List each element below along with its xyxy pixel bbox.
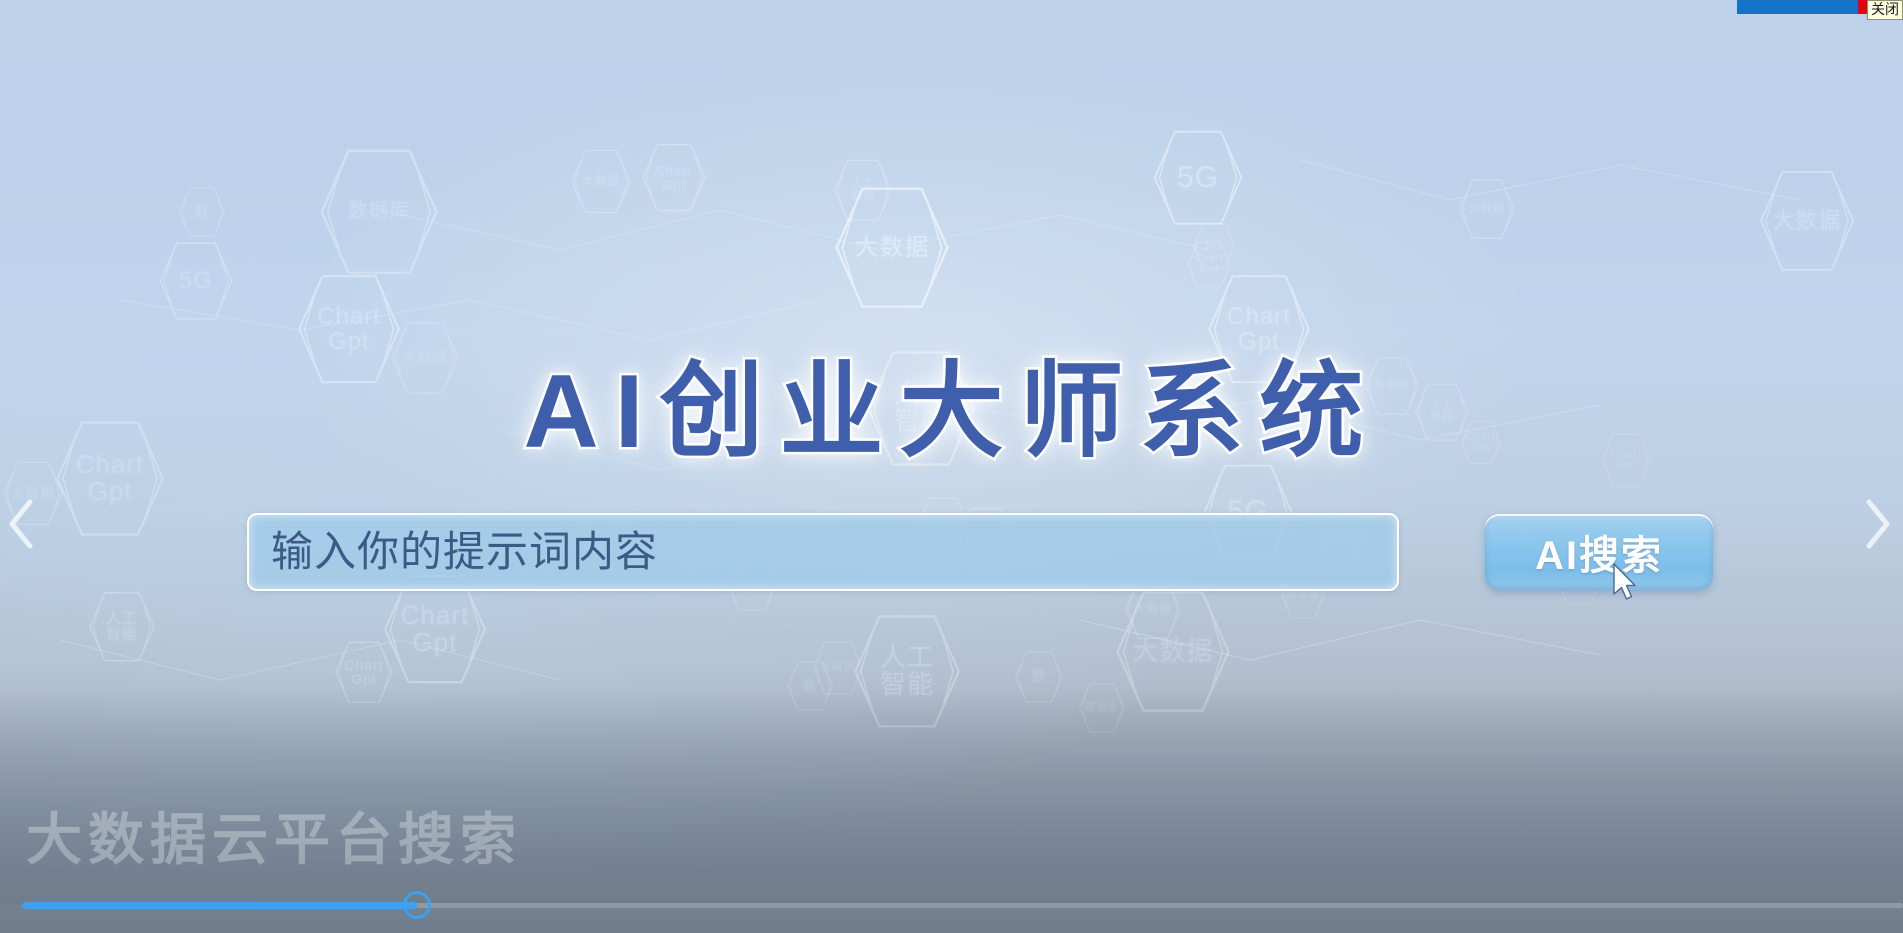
hexagon-outline-icon	[1078, 682, 1126, 734]
hexagon-outline-icon	[852, 612, 962, 731]
hexagon-decoration: 数据库	[1078, 682, 1126, 734]
hexagon-decoration: 数	[786, 660, 834, 712]
background-watermark: 大数据云平台搜索	[26, 795, 522, 876]
hexagon-decoration: 5G	[158, 240, 234, 322]
hexagon-outline-icon	[641, 142, 707, 213]
hexagon-outline-icon	[334, 640, 394, 705]
search-input[interactable]	[247, 513, 1399, 591]
hexagon-decoration: 大数据	[833, 184, 951, 311]
page-title: AI创业大师系统	[0, 326, 1903, 477]
hexagon-decoration: 人工 智能	[88, 590, 156, 663]
hexagon-outline-icon	[1152, 128, 1244, 227]
bottom-slider[interactable]	[0, 893, 1903, 917]
app-stage: 数据库大数据Chart Gpt人工 智能大数据5G大数据大数据5GChart G…	[0, 0, 1903, 933]
hexagon-outline-icon	[318, 146, 440, 278]
hexagon-outline-icon	[833, 184, 951, 311]
hexagon-decoration: 数据库	[318, 146, 440, 278]
carousel-next-arrow-icon[interactable]	[1857, 494, 1897, 554]
hexagon-label: 人工 智能	[851, 179, 875, 202]
hexagon-label: 人工 智能	[106, 611, 138, 643]
hexagon-label: 数	[803, 679, 818, 694]
hexagon-decoration: 人工 智能	[833, 158, 893, 223]
hexagon-decoration: 大数据	[1758, 168, 1856, 274]
hexagon-label: 大数据	[1469, 204, 1505, 216]
close-tooltip: 关闭	[1867, 0, 1903, 20]
hexagon-label: 5G	[1205, 239, 1223, 252]
hexagon-decoration: Chart Gpt	[641, 142, 707, 213]
hexagon-outline-icon	[1114, 588, 1232, 715]
hexagon-label: 互联网	[820, 662, 856, 674]
hexagon-label: 数据库	[1086, 703, 1119, 714]
hexagon-decoration: 数	[1014, 650, 1064, 704]
hexagon-decoration: Chart Gpt	[334, 640, 394, 705]
hexagon-outline-icon	[1458, 178, 1516, 241]
hexagon-label: 大数据	[855, 235, 930, 260]
bottom-haze-overlay	[0, 690, 1903, 905]
hexagon-outline-icon	[570, 148, 632, 215]
hexagon-decoration: 人工 智能	[852, 612, 962, 731]
hexagon-label: Chart Gpt	[344, 658, 383, 687]
hexagon-decoration: 5G	[1192, 222, 1236, 270]
hexagon-outline-icon	[158, 240, 234, 322]
hexagon-label: 人工 智能	[880, 644, 934, 699]
hexagon-label: 5G	[179, 268, 213, 293]
slider-handle[interactable]	[403, 891, 431, 919]
hexagon-label: 大数据	[583, 176, 619, 188]
hexagon-label: 大数据	[1772, 209, 1841, 232]
hexagon-outline-icon	[178, 186, 226, 238]
hexagon-decoration: Chart Gpt	[1186, 240, 1232, 290]
hexagon-outline-icon	[1186, 240, 1232, 290]
hexagon-label: 5G	[1177, 162, 1219, 194]
hexagon-label: 数	[195, 205, 210, 220]
hexagon-outline-icon	[786, 660, 834, 712]
hexagon-label: 数	[1031, 669, 1047, 685]
hexagon-decoration: 大数据	[1458, 178, 1516, 241]
hexagon-decoration: 数	[178, 186, 226, 238]
hexagon-outline-icon	[1014, 650, 1064, 704]
search-row: AI搜索	[247, 508, 1727, 596]
hexagon-outline-icon	[88, 590, 156, 663]
hexagon-outline-icon	[833, 158, 893, 223]
hexagon-label: 大数据	[1132, 638, 1213, 665]
hexagon-label: 大数据	[1133, 603, 1172, 616]
hexagon-outline-icon	[1758, 168, 1856, 274]
ai-search-button[interactable]: AI搜索	[1485, 514, 1713, 590]
hexagon-decoration: 大数据	[1114, 588, 1232, 715]
hexagon-decoration: 大数据	[570, 148, 632, 215]
hexagon-label: Chart Gpt	[401, 602, 470, 657]
carousel-prev-arrow-icon[interactable]	[2, 494, 42, 554]
hexagon-label: 数据库	[348, 201, 411, 222]
hexagon-label: Chart Gpt	[1194, 254, 1223, 275]
hexagon-decoration: 互联网	[812, 640, 864, 696]
taskbar-blue-segment[interactable]	[1737, 0, 1858, 14]
hexagon-label: Chart Gpt	[656, 164, 693, 191]
hexagon-decoration: 5G	[1152, 128, 1244, 227]
hexagon-outline-icon	[812, 640, 864, 696]
hexagon-outline-icon	[1192, 222, 1236, 270]
slider-fill	[22, 902, 417, 909]
